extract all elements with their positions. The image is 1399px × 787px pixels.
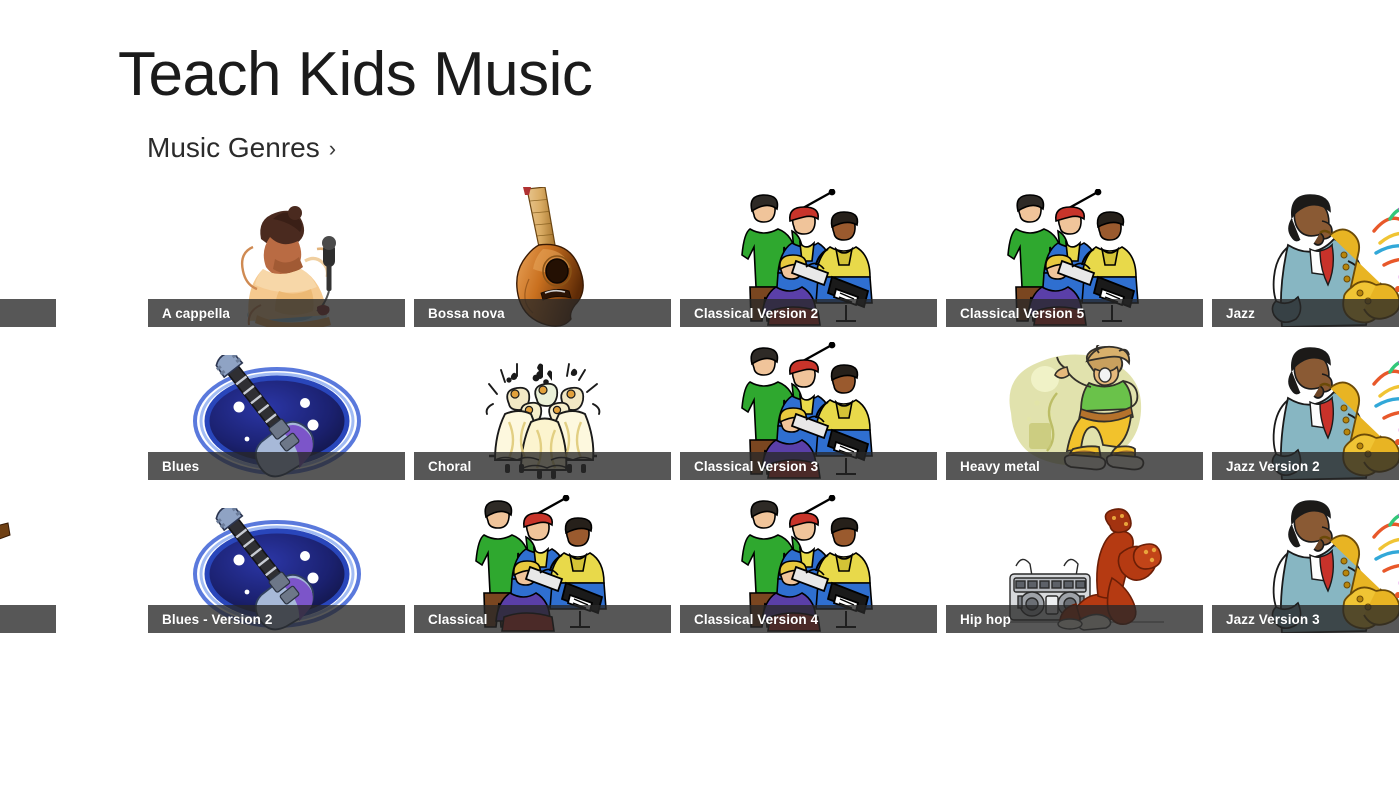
tile-label-bar: Bossa nova [414, 299, 671, 327]
group-header-label: Music Genres [147, 134, 320, 162]
tile-label-bar: Choral [414, 452, 671, 480]
tile-label-text: Jazz Version 3 [1226, 612, 1320, 627]
tile-label-text: Classical Version 4 [694, 612, 818, 627]
tile-label-text: Choral [428, 459, 471, 474]
tile-jazz-version-2[interactable]: Jazz Version 2 [1212, 339, 1399, 480]
app-root: Teach Kids Music Music Genres › [0, 0, 1399, 787]
tile-label-text: Blues - Version 2 [162, 612, 273, 627]
tile-label-bar: Blues [148, 452, 405, 480]
tile-label-text: Hip hop [960, 612, 1011, 627]
tile-label-bar: A cappella [148, 299, 405, 327]
tile-label-text: Heavy metal [960, 459, 1040, 474]
tile-blues[interactable]: Blues [148, 339, 405, 480]
tile-label-text: Jazz Version 2 [1226, 459, 1320, 474]
tile-empty-0-1[interactable] [0, 339, 56, 480]
tile-empty-0-2[interactable] [0, 492, 56, 633]
tile-label-bar: Hip hop [946, 605, 1203, 633]
tile-label-bar: Heavy metal [946, 452, 1203, 480]
tile-label-bar: Classical Version 4 [680, 605, 937, 633]
tile-label-bar: Jazz [1212, 299, 1399, 327]
tile-a-cappella[interactable]: A cappella [148, 186, 405, 327]
tile-classical-version-4[interactable]: Classical Version 4 [680, 492, 937, 633]
tile-classical-version-2[interactable]: Classical Version 2 [680, 186, 937, 327]
tile-jazz-version-3[interactable]: Jazz Version 3 [1212, 492, 1399, 633]
tile-label-bar: Jazz Version 2 [1212, 452, 1399, 480]
tile-blues-version-2[interactable]: Blues - Version 2 [148, 492, 405, 633]
tile-label-bar: Classical Version 3 [680, 452, 937, 480]
tile-grid-partial-left [0, 186, 56, 633]
tile-empty-0-0[interactable] [0, 186, 56, 327]
tile-classical[interactable]: Classical [414, 492, 671, 633]
tile-label-bar: Classical [414, 605, 671, 633]
tile-heavy-metal[interactable]: Heavy metal [946, 339, 1203, 480]
tile-label-bar: Classical Version 2 [680, 299, 937, 327]
page-title: Teach Kids Music [118, 44, 592, 106]
tile-choral[interactable]: Choral [414, 339, 671, 480]
tile-classical-version-3[interactable]: Classical Version 3 [680, 339, 937, 480]
tile-label-bar: Blues - Version 2 [148, 605, 405, 633]
tile-classical-version-5[interactable]: Classical Version 5 [946, 186, 1203, 327]
tile-label-bar: Jazz Version 3 [1212, 605, 1399, 633]
tile-label-text: Classical Version 2 [694, 306, 818, 321]
tile-jazz[interactable]: Jazz [1212, 186, 1399, 327]
chevron-right-icon: › [329, 138, 336, 160]
tile-label-text: Classical Version 5 [960, 306, 1084, 321]
group-header-music-genres[interactable]: Music Genres › [147, 134, 336, 162]
tile-label-text: Classical [428, 612, 487, 627]
tile-grid: A cappella Blues [148, 186, 1399, 633]
none [0, 339, 56, 480]
tile-label-bar [0, 299, 56, 327]
tile-label-text: Jazz [1226, 306, 1255, 321]
tile-label-bar [0, 605, 56, 633]
tile-bossa-nova[interactable]: Bossa nova [414, 186, 671, 327]
tile-label-text: Blues [162, 459, 199, 474]
tile-label-text: Classical Version 3 [694, 459, 818, 474]
tile-label-text: Bossa nova [428, 306, 505, 321]
tile-label-text: A cappella [162, 306, 230, 321]
tile-label-bar: Classical Version 5 [946, 299, 1203, 327]
tile-hip-hop[interactable]: Hip hop [946, 492, 1203, 633]
